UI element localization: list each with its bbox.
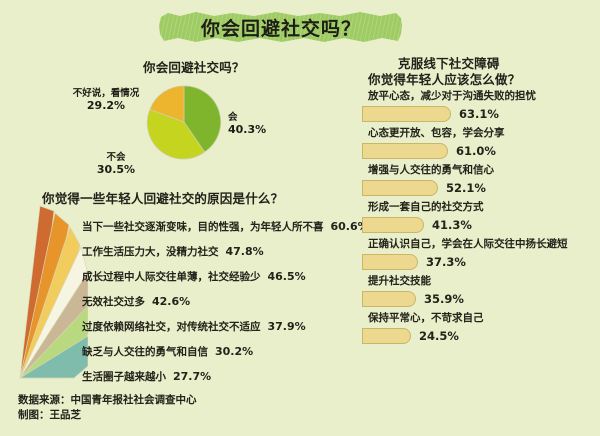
advice-bar: [362, 106, 451, 122]
advice-label: 增强与人交往的勇气和信心: [368, 162, 598, 177]
advice-bar-row: 24.5%: [362, 328, 598, 344]
advice-value: 37.3%: [426, 255, 466, 269]
pie-chart-svg: [146, 84, 222, 160]
advice-label: 提升社交技能: [368, 273, 598, 288]
reasons-list: 当下一些社交逐渐变味，目的性强，为年轻人所不喜 60.6% 工作生活压力大，没精…: [82, 214, 352, 389]
advice-item: 保持平常心，不苛求自己 24.5%: [362, 310, 598, 344]
advice-value: 41.3%: [432, 218, 472, 232]
advice-bar-row: 52.1%: [362, 180, 598, 196]
advice-bar: [362, 254, 418, 270]
advice-bar: [362, 217, 424, 233]
page-title: 你会回避社交吗？: [201, 14, 361, 41]
chart-credit-text: 制图：王品芝: [18, 408, 197, 423]
advice-value: 52.1%: [446, 181, 486, 195]
reason-item: 缺乏与人交往的勇气和自信 30.2%: [82, 339, 352, 364]
advice-item: 正确认识自己，学会在人际交往中扬长避短 37.3%: [362, 236, 598, 270]
advice-label: 保持平常心，不苛求自己: [368, 310, 598, 325]
advice-label: 形成一套自己的社交方式: [368, 199, 598, 214]
reason-value: 37.9%: [268, 320, 306, 333]
reason-item: 无效社交过多 42.6%: [82, 289, 352, 314]
reason-label: 无效社交过多: [82, 294, 145, 309]
advice-bar-row: 63.1%: [362, 106, 598, 122]
reason-value: 42.6%: [152, 295, 190, 308]
advice-item: 增强与人交往的勇气和信心 52.1%: [362, 162, 598, 196]
pie-label-yes-pct: 40.3%: [228, 124, 266, 136]
reason-label: 当下一些社交逐渐变味，目的性强，为年轻人所不喜: [82, 219, 324, 234]
pie-chart: [146, 84, 222, 160]
reason-item: 当下一些社交逐渐变味，目的性强，为年轻人所不喜 60.6%: [82, 214, 352, 239]
reason-item: 工作生活压力大，没精力社交 47.8%: [82, 239, 352, 264]
advice-bar-row: 37.3%: [362, 254, 598, 270]
advice-bar-row: 41.3%: [362, 217, 598, 233]
advice-bar: [362, 143, 448, 159]
advice-bar: [362, 328, 411, 344]
fan-decoration-icon: [8, 200, 88, 382]
reason-item: 生活圈子越来越小 27.7%: [82, 364, 352, 389]
reason-item: 过度依赖网络社交，对传统社交不适应 37.9%: [82, 314, 352, 339]
advice-bar-chart: 放平心态，减少对于沟通失败的担忧 63.1% 心态更开放、包容，学会分享 61.…: [362, 88, 598, 347]
pie-section-heading: 你会回避社交吗？: [143, 57, 245, 76]
pie-label-yes: 会 40.3%: [228, 112, 266, 136]
pie-label-depends: 不好说，看情况 29.2%: [64, 88, 148, 112]
advice-bar: [362, 291, 416, 307]
advice-value: 35.9%: [424, 292, 464, 306]
advice-value: 63.1%: [459, 107, 499, 121]
reason-value: 30.2%: [215, 345, 253, 358]
reason-label: 缺乏与人交往的勇气和自信: [82, 344, 208, 359]
advice-label: 放平心态，减少对于沟通失败的担忧: [368, 88, 598, 103]
advice-value: 24.5%: [419, 329, 459, 343]
reason-value: 47.8%: [226, 245, 264, 258]
pie-label-no-pct: 30.5%: [86, 164, 146, 176]
advice-bar-row: 61.0%: [362, 143, 598, 159]
title-banner: 你会回避社交吗？: [158, 10, 404, 44]
advice-label: 心态更开放、包容，学会分享: [368, 125, 598, 140]
reason-label: 成长过程中人际交往单薄，社交经验少: [82, 269, 261, 284]
pie-label-no: 不会 30.5%: [86, 152, 146, 176]
data-source-text: 数据来源：中国青年报社社会调查中心: [18, 393, 197, 408]
advice-section-heading-line2: 你觉得年轻人应该怎么做？: [368, 69, 520, 88]
reason-label: 工作生活压力大，没精力社交: [82, 244, 219, 259]
fan-decoration-svg: [8, 200, 88, 382]
reason-value: 46.5%: [268, 270, 306, 283]
pie-label-depends-pct: 29.2%: [64, 100, 148, 112]
advice-item: 形成一套自己的社交方式 41.3%: [362, 199, 598, 233]
infographic-root: 你会回避社交吗？ 你会回避社交吗？ 会 40.3% 不会 30.5% 不好说，看…: [0, 0, 600, 436]
advice-label: 正确认识自己，学会在人际交往中扬长避短: [368, 236, 598, 251]
advice-bar-row: 35.9%: [362, 291, 598, 307]
advice-value: 61.0%: [456, 144, 496, 158]
advice-item: 提升社交技能 35.9%: [362, 273, 598, 307]
reason-value: 27.7%: [173, 370, 211, 383]
footer-credits: 数据来源：中国青年报社社会调查中心 制图：王品芝: [18, 393, 197, 423]
reason-label: 生活圈子越来越小: [82, 369, 166, 384]
reason-item: 成长过程中人际交往单薄，社交经验少 46.5%: [82, 264, 352, 289]
advice-item: 心态更开放、包容，学会分享 61.0%: [362, 125, 598, 159]
advice-bar: [362, 180, 438, 196]
reason-label: 过度依赖网络社交，对传统社交不适应: [82, 319, 261, 334]
advice-item: 放平心态，减少对于沟通失败的担忧 63.1%: [362, 88, 598, 122]
